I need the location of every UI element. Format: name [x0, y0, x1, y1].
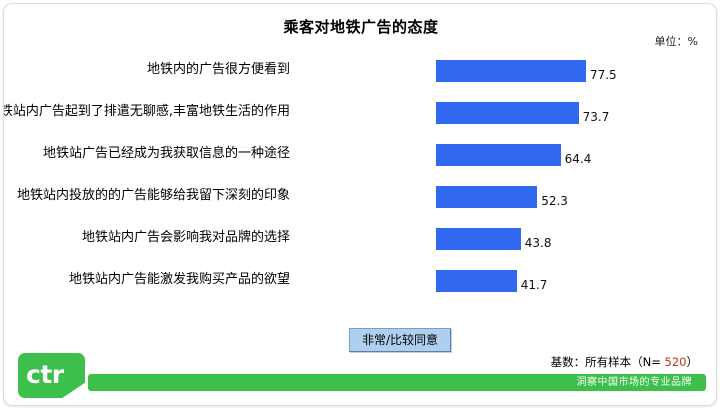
bar-track: 52.3	[428, 186, 710, 208]
bar-fill[interactable]	[436, 102, 579, 124]
ctr-logo: ctr	[18, 353, 85, 398]
bar-fill[interactable]	[436, 60, 586, 82]
bar-value-label: 52.3	[541, 190, 568, 212]
footer-slogan: 洞察中国市场的专业品牌	[577, 375, 693, 390]
bar-value-label: 77.5	[590, 64, 617, 86]
bar-track: 64.4	[428, 144, 710, 166]
footer-bar: 洞察中国市场的专业品牌	[88, 374, 706, 391]
bar-category-label: 地铁站内广告会影响我对品牌的选择	[82, 230, 290, 246]
bar-category-label: 地铁站内投放的的广告能够给我留下深刻的印象	[17, 188, 290, 204]
bar-value-label: 41.7	[521, 274, 548, 296]
bar-row: 地铁站内投放的的广告能够给我留下深刻的印象 52.3	[12, 182, 710, 224]
bar-track: 43.8	[428, 228, 710, 250]
unit-label: 单位：%	[655, 33, 698, 49]
bar-fill[interactable]	[436, 228, 521, 250]
bar-category-label: 地铁站内广告能激发我购买产品的欲望	[69, 272, 290, 288]
bar-row: 地铁站广告已经成为我获取信息的一种途径 64.4	[12, 140, 710, 182]
bar-row: 地铁站内广告会影响我对品牌的选择 43.8	[12, 224, 710, 266]
bar-fill[interactable]	[436, 186, 537, 208]
bar-track: 73.7	[428, 102, 710, 124]
legend-item-agree[interactable]: 非常/比较同意	[349, 328, 451, 352]
bar-chart-plot-area: 地铁内的广告很方便看到 77.5 地铁站内广告起到了排遣无聊感,丰富地铁生活的作…	[12, 56, 710, 308]
bar-value-label: 73.7	[583, 106, 610, 128]
bar-fill[interactable]	[436, 144, 561, 166]
bar-row: 地铁内的广告很方便看到 77.5	[12, 56, 710, 98]
bar-value-label: 64.4	[565, 148, 592, 170]
chart-slide: 乘客对地铁广告的态度 单位：% 地铁内的广告很方便看到 77.5 地铁站内广告起…	[3, 3, 717, 406]
bar-category-label: 地铁站广告已经成为我获取信息的一种途径	[43, 146, 290, 162]
bar-row: 地铁站内广告能激发我购买产品的欲望 41.7	[12, 266, 710, 308]
ctr-logo-text: ctr	[26, 362, 64, 387]
bar-track: 41.7	[428, 270, 710, 292]
bar-row: 地铁站内广告起到了排遣无聊感,丰富地铁生活的作用 73.7	[12, 98, 710, 140]
chart-title: 乘客对地铁广告的态度	[4, 16, 717, 37]
bar-fill[interactable]	[436, 270, 517, 292]
bar-category-label: 地铁内的广告很方便看到	[147, 62, 290, 78]
bar-value-label: 43.8	[525, 232, 552, 254]
bar-category-label: 地铁站内广告起到了排遣无聊感,丰富地铁生活的作用	[3, 104, 290, 120]
bar-track: 77.5	[428, 60, 710, 82]
footer: 洞察中国市场的专业品牌 ctr ®	[4, 361, 717, 405]
